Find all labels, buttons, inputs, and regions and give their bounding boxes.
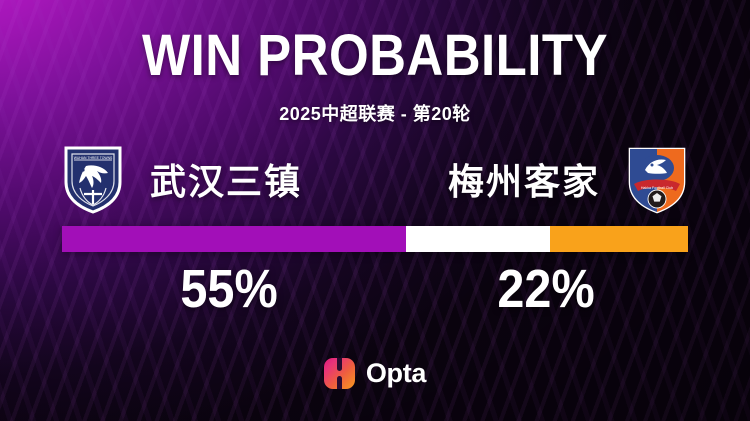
opta-branding: Opta (0, 353, 750, 393)
home-team-name: 武汉三镇 (150, 153, 302, 205)
home-team: WUHAN THREE TOWNS 武汉三镇 (62, 140, 302, 218)
bar-segment-home (62, 226, 406, 252)
win-probability-graphic: WIN PROBABILITY 2025中超联赛 - 第20轮 WUHAN TH… (0, 0, 750, 421)
teams-row: WUHAN THREE TOWNS 武汉三镇 梅州客家 (0, 140, 750, 218)
away-team: 梅州客家 Hakka Football Club (448, 140, 688, 218)
away-team-name: 梅州客家 (448, 153, 600, 205)
bar-segment-draw (406, 226, 550, 252)
away-win-percentage: 22% (497, 262, 594, 316)
opta-mark-icon (324, 358, 355, 389)
win-probability-bar (62, 226, 688, 252)
bar-segment-away (550, 226, 688, 252)
svg-text:Hakka Football Club: Hakka Football Club (641, 186, 673, 190)
page-title: WIN PROBABILITY (45, 27, 705, 85)
svg-text:WUHAN THREE TOWNS: WUHAN THREE TOWNS (74, 156, 113, 160)
meizhou-hakka-crest-icon: Hakka Football Club (626, 144, 688, 214)
percentage-row: 55% 22% (0, 262, 750, 326)
competition-subtitle: 2025中超联赛 - 第20轮 (0, 100, 750, 126)
home-win-percentage: 55% (180, 262, 277, 316)
wuhan-three-towns-crest-icon: WUHAN THREE TOWNS (62, 144, 124, 214)
opta-wordmark: Opta (366, 358, 426, 389)
